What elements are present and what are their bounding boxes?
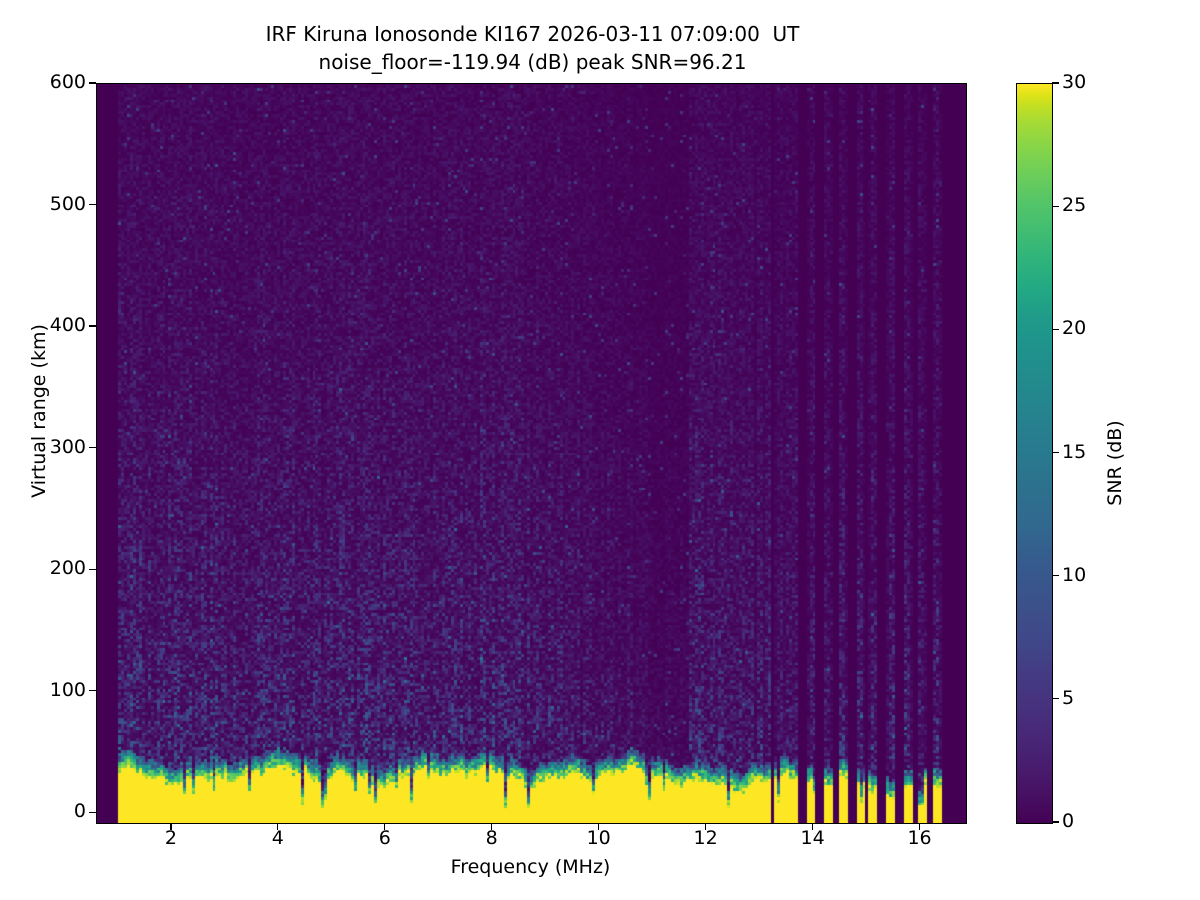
- colorbar: [1016, 83, 1053, 824]
- y-tick-label-500: 500: [50, 195, 86, 214]
- ionogram-heatmap: [97, 84, 966, 823]
- colorbar-tick-mark: [1052, 575, 1059, 576]
- colorbar-tick-mark: [1052, 206, 1059, 207]
- colorbar-label: SNR (dB): [1104, 378, 1126, 548]
- colorbar-tick-mark: [1052, 821, 1059, 822]
- x-tick-label-10: 10: [569, 829, 629, 848]
- y-tick-mark: [89, 690, 96, 691]
- colorbar-tick-mark: [1052, 82, 1059, 83]
- x-tick-label-2: 2: [141, 829, 201, 848]
- x-axis-label: Frequency (MHz): [96, 856, 965, 878]
- y-tick-label-600: 600: [50, 73, 86, 92]
- y-tick-mark: [89, 82, 96, 83]
- x-tick-label-16: 16: [890, 829, 950, 848]
- colorbar-tick-label-30: 30: [1062, 73, 1086, 92]
- figure-title-line1: IRF Kiruna Ionosonde KI167 2026-03-11 07…: [0, 20, 1065, 48]
- y-tick-label-300: 300: [50, 438, 86, 457]
- y-tick-label-100: 100: [50, 681, 86, 700]
- y-axis-label: Virtual range (km): [28, 301, 50, 521]
- colorbar-tick-label-5: 5: [1062, 689, 1074, 708]
- ionogram-figure: IRF Kiruna Ionosonde KI167 2026-03-11 07…: [0, 0, 1200, 900]
- figure-title-line2: noise_floor=-119.94 (dB) peak SNR=96.21: [0, 48, 1065, 76]
- colorbar-tick-label-20: 20: [1062, 319, 1086, 338]
- colorbar-tick-label-0: 0: [1062, 812, 1074, 831]
- y-tick-label-0: 0: [74, 802, 86, 821]
- y-tick-mark: [89, 325, 96, 326]
- y-tick-mark: [89, 569, 96, 570]
- colorbar-tick-label-10: 10: [1062, 566, 1086, 585]
- x-tick-label-14: 14: [783, 829, 843, 848]
- colorbar-tick-label-15: 15: [1062, 443, 1086, 462]
- colorbar-tick-label-25: 25: [1062, 196, 1086, 215]
- y-tick-mark: [89, 812, 96, 813]
- colorbar-tick-mark: [1052, 452, 1059, 453]
- x-tick-label-4: 4: [248, 829, 308, 848]
- colorbar-tick-mark: [1052, 698, 1059, 699]
- x-tick-label-6: 6: [355, 829, 415, 848]
- x-tick-label-8: 8: [462, 829, 522, 848]
- colorbar-gradient: [1017, 84, 1052, 823]
- colorbar-tick-mark: [1052, 329, 1059, 330]
- y-tick-label-400: 400: [50, 316, 86, 335]
- y-tick-mark: [89, 447, 96, 448]
- y-tick-label-200: 200: [50, 559, 86, 578]
- y-tick-mark: [89, 204, 96, 205]
- ionogram-plot-area: [96, 83, 967, 824]
- x-tick-label-12: 12: [676, 829, 736, 848]
